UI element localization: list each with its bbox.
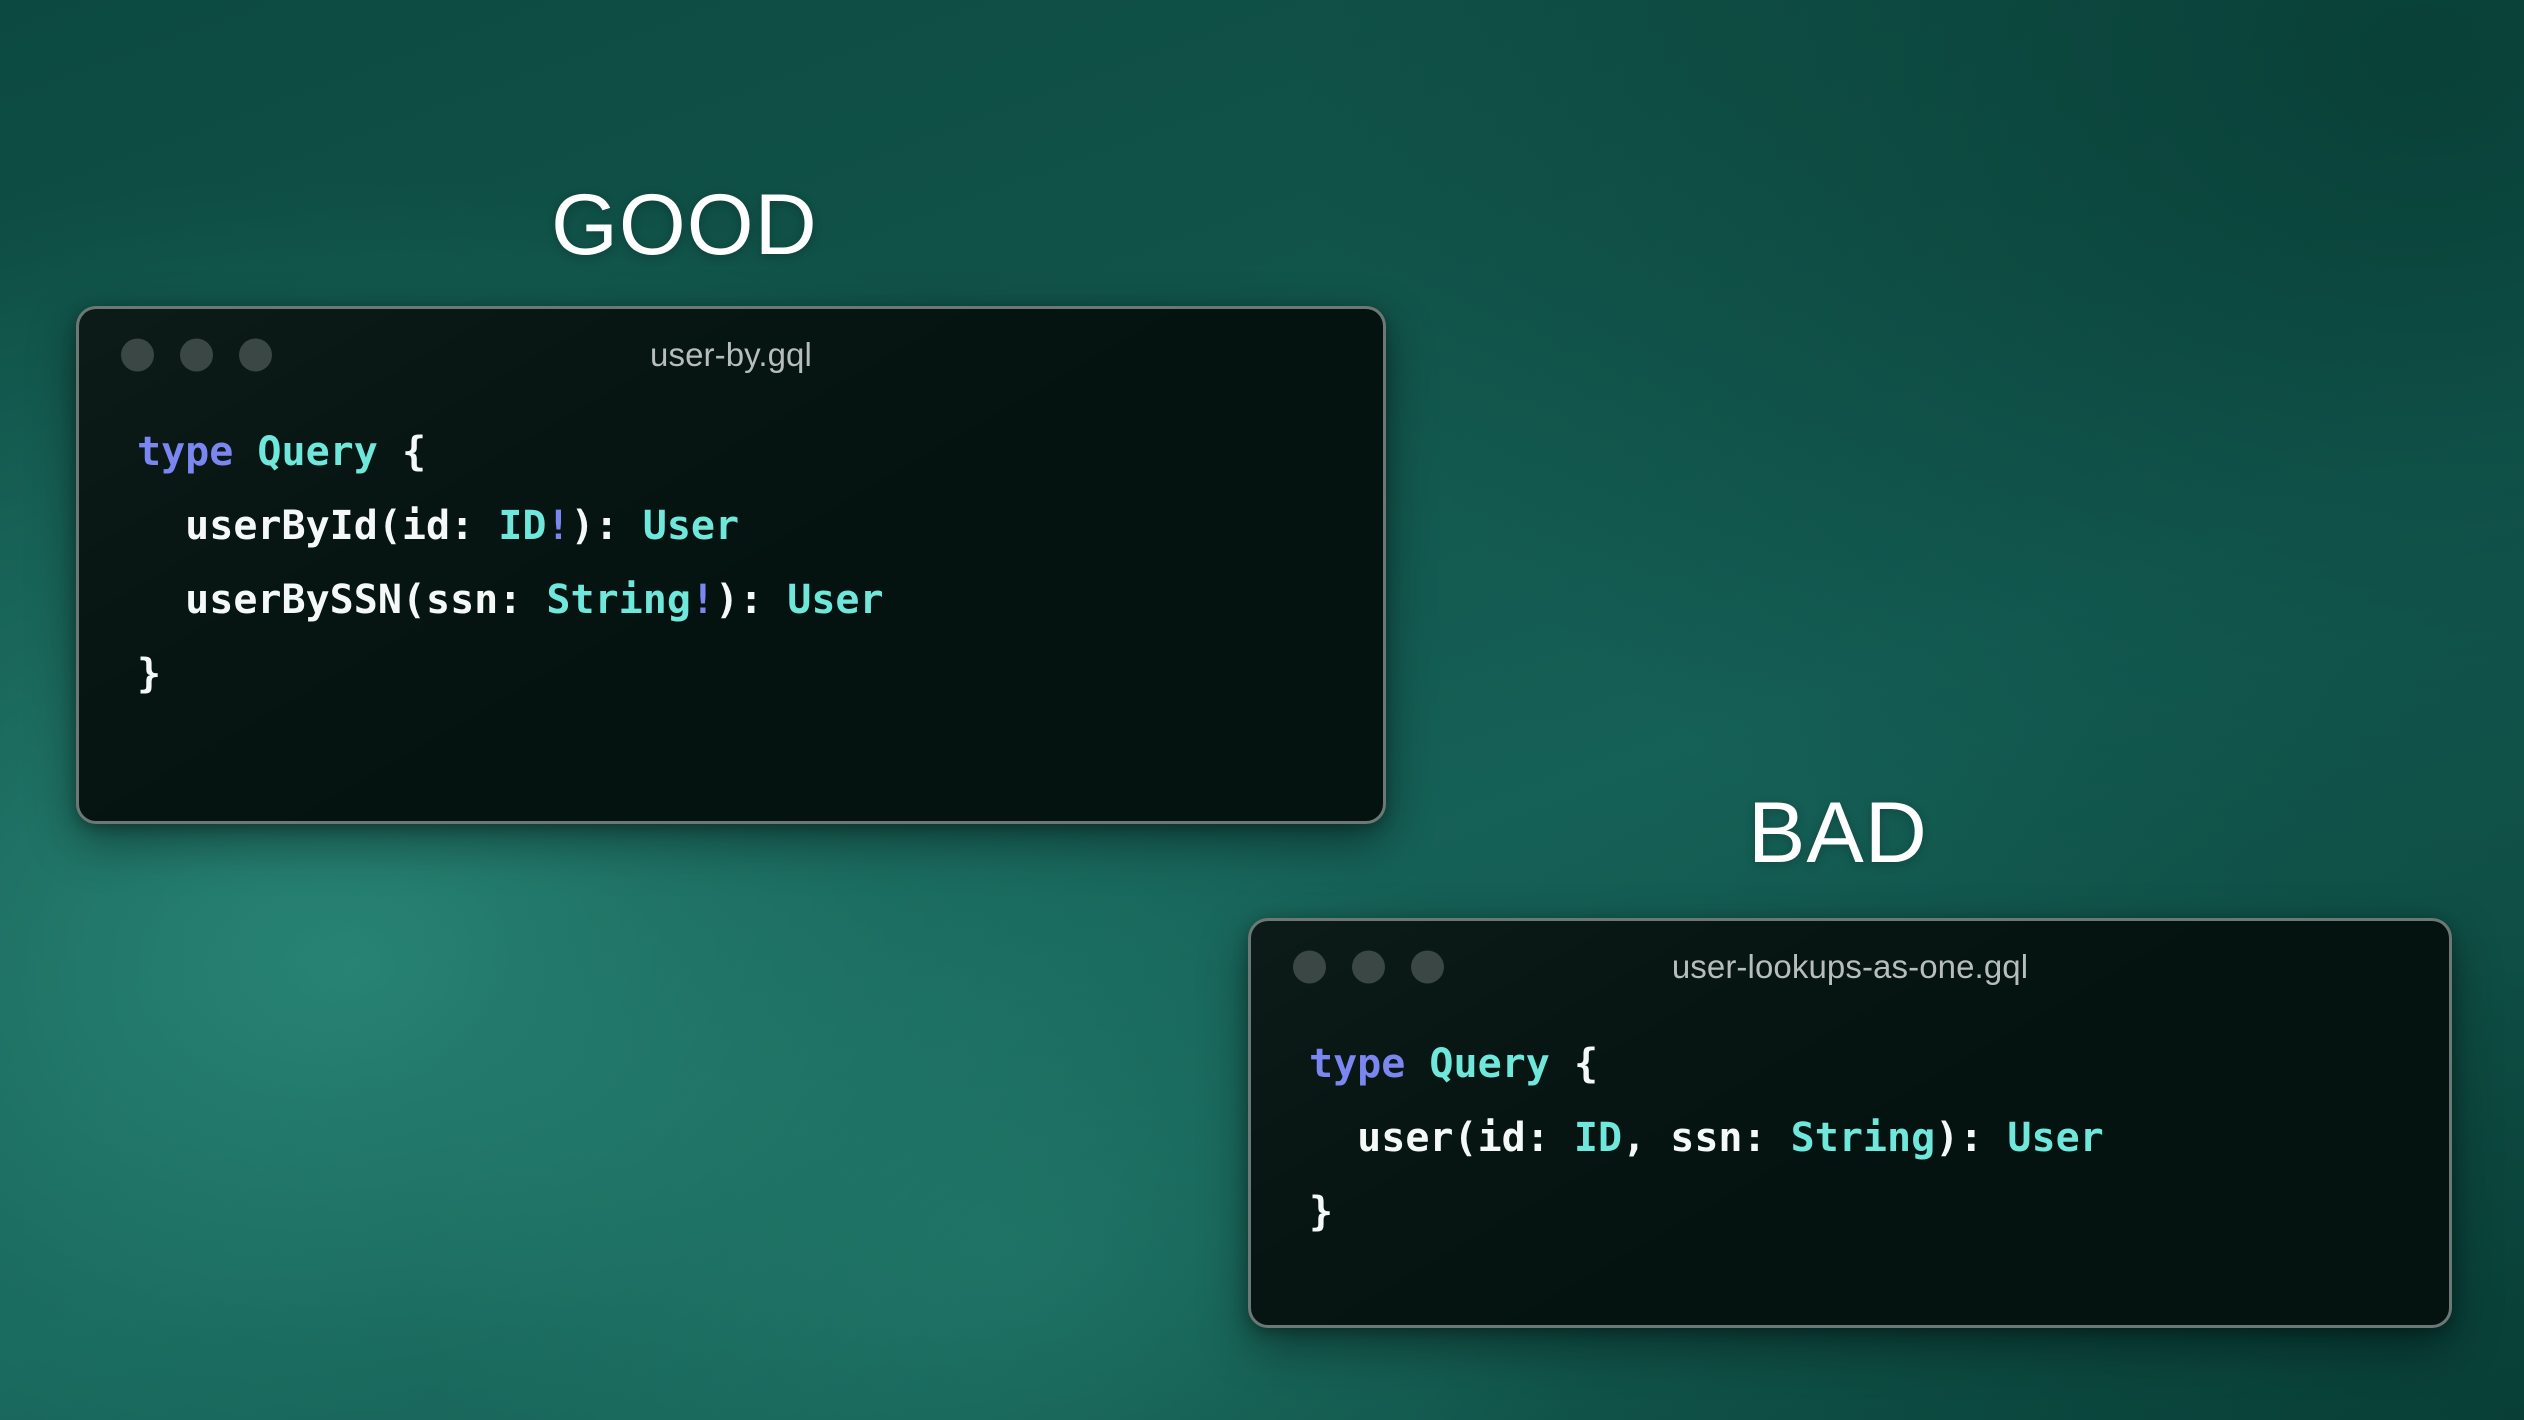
close-dot-icon[interactable] <box>121 339 154 372</box>
code-token-ident: , ssn: <box>1622 1115 1791 1161</box>
code-block-bad: type Query { user(id: ID, ssn: String): … <box>1251 1013 2449 1249</box>
code-window-good: user-by.gql type Query { userById(id: ID… <box>76 306 1386 824</box>
maximize-dot-icon[interactable] <box>239 339 272 372</box>
code-token-punct: { <box>1574 1041 1598 1087</box>
code-line: user(id: ID, ssn: String): User <box>1309 1101 2449 1175</box>
code-token-type: ID <box>1574 1115 1622 1161</box>
code-token-punct: } <box>137 651 161 697</box>
code-token-punct: } <box>1309 1189 1333 1235</box>
code-token-type: String <box>546 577 691 623</box>
code-token-ident: ): <box>715 577 787 623</box>
code-token-bang: ! <box>546 503 570 549</box>
window-controls-good <box>121 339 272 372</box>
code-line: userById(id: ID!): User <box>137 489 1383 563</box>
window-titlebar-bad: user-lookups-as-one.gql <box>1251 921 2449 1013</box>
code-token-plain <box>1405 1041 1429 1087</box>
code-token-ident: ): <box>1935 1115 2007 1161</box>
code-block-good: type Query { userById(id: ID!): User use… <box>79 401 1383 711</box>
maximize-dot-icon[interactable] <box>1411 951 1444 984</box>
annotation-label-bad: BAD <box>1748 790 1928 876</box>
code-token-ident: userBySSN(ssn: <box>137 577 546 623</box>
code-token-type: String <box>1791 1115 1936 1161</box>
code-token-type: User <box>643 503 739 549</box>
code-token-plain <box>1550 1041 1574 1087</box>
close-dot-icon[interactable] <box>1293 951 1326 984</box>
code-token-type: Query <box>257 429 377 475</box>
code-token-punct: { <box>402 429 426 475</box>
window-controls-bad <box>1293 951 1444 984</box>
code-token-ident: ): <box>571 503 643 549</box>
code-line: type Query { <box>1309 1027 2449 1101</box>
code-token-keyword: type <box>137 429 233 475</box>
code-line: userBySSN(ssn: String!): User <box>137 563 1383 637</box>
code-line: } <box>137 637 1383 711</box>
code-token-type: User <box>2007 1115 2103 1161</box>
slide-canvas: GOOD user-by.gql type Query { userById(i… <box>0 0 2524 1420</box>
minimize-dot-icon[interactable] <box>1352 951 1385 984</box>
code-line: } <box>1309 1175 2449 1249</box>
code-token-type: User <box>787 577 883 623</box>
code-line: type Query { <box>137 415 1383 489</box>
code-token-type: ID <box>498 503 546 549</box>
window-filename-good: user-by.gql <box>79 336 1383 374</box>
code-token-ident: userById(id: <box>137 503 498 549</box>
window-titlebar-good: user-by.gql <box>79 309 1383 401</box>
code-token-keyword: type <box>1309 1041 1405 1087</box>
code-token-plain <box>233 429 257 475</box>
code-token-ident: user(id: <box>1309 1115 1574 1161</box>
annotation-label-good: GOOD <box>551 182 818 268</box>
code-token-bang: ! <box>691 577 715 623</box>
minimize-dot-icon[interactable] <box>180 339 213 372</box>
code-window-bad: user-lookups-as-one.gql type Query { use… <box>1248 918 2452 1328</box>
code-token-plain <box>378 429 402 475</box>
code-token-type: Query <box>1429 1041 1549 1087</box>
